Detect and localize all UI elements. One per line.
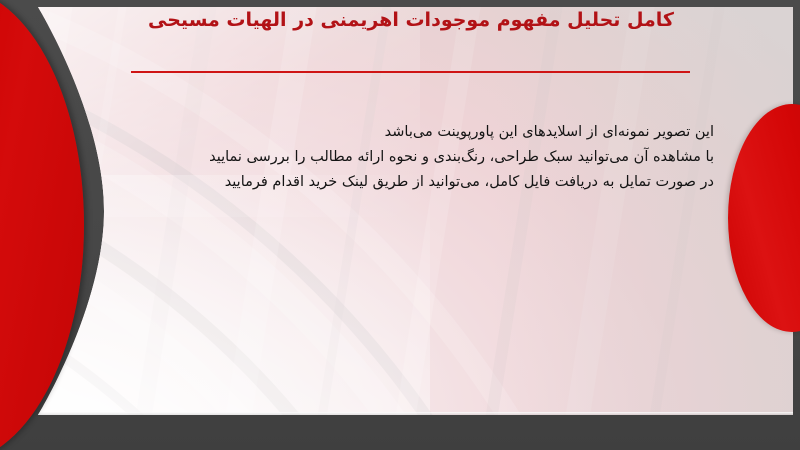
body-line: این تصویر نمونه‌ای از اسلایدهای این پاور… [74,120,714,145]
title-divider-rule [131,71,690,73]
slide-content-panel [0,7,793,415]
presentation-slide: کامل تحلیل مفهوم موجودات اهریمنی در الهی… [0,0,800,450]
slide-body-block: این تصویر نمونه‌ای از اسلایدهای این پاور… [74,120,714,195]
body-line: با مشاهده آن می‌توانید سبک طراحی، رنگ‌بن… [74,145,714,170]
panel-bottom-edge [0,412,793,415]
body-line: در صورت تمایل به دریافت فایل کامل، می‌تو… [74,170,714,195]
slide-title-block: کامل تحلیل مفهوم موجودات اهریمنی در الهی… [130,8,692,33]
slide-title: کامل تحلیل مفهوم موجودات اهریمنی در الهی… [130,8,692,33]
